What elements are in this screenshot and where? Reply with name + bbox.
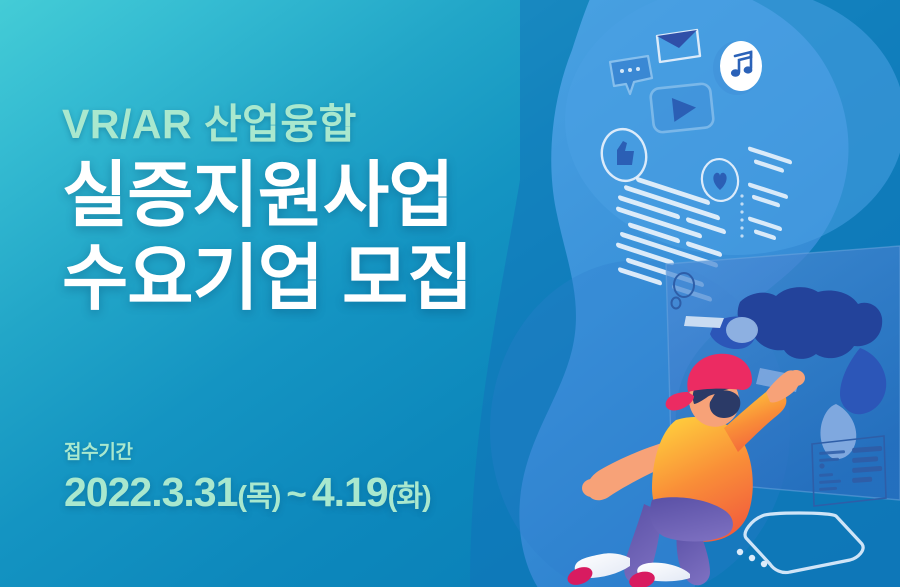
envelope-icon	[657, 30, 700, 62]
world-map-graphic	[684, 287, 886, 459]
video-play-icon	[650, 83, 714, 133]
headline-line-1: 실증지원사업	[62, 157, 472, 236]
application-period-block: 접수기간 2022.3.31(목)~4.19(화)	[64, 443, 431, 513]
headline-block: VR/AR 산업융합 실증지원사업 수요기업 모집	[62, 104, 472, 319]
end-date: 4.19	[312, 469, 388, 515]
base-plate-dots	[737, 549, 767, 567]
device-base-plate	[737, 513, 863, 573]
heart-icon	[699, 156, 742, 204]
document-lines-icon-secondary	[748, 146, 792, 246]
promo-banner: VR/AR 산업융합 실증지원사업 수요기업 모집 접수기간 2022.3.31…	[0, 0, 900, 587]
application-period-value: 2022.3.31(목)~4.19(화)	[64, 472, 431, 513]
application-period-label: 접수기간	[64, 443, 431, 462]
info-card	[812, 436, 886, 506]
headline-line-2: 수요기업 모집	[62, 240, 472, 319]
date-separator: ~	[280, 475, 311, 514]
document-lines-icon	[616, 170, 726, 307]
vr-user-figure	[565, 354, 805, 587]
thumbs-up-icon	[597, 125, 651, 185]
start-date: 2022.3.31	[64, 469, 237, 515]
camera-lens-icon	[672, 273, 695, 309]
start-day-of-week: (목)	[237, 481, 280, 513]
eyebrow-text: VR/AR 산업융합	[62, 104, 472, 145]
end-day-of-week: (화)	[388, 481, 431, 513]
chat-bubble-icon	[610, 56, 652, 94]
dotted-divider	[740, 194, 743, 237]
floating-screen-panel	[666, 246, 900, 506]
music-note-icon	[713, 41, 762, 95]
